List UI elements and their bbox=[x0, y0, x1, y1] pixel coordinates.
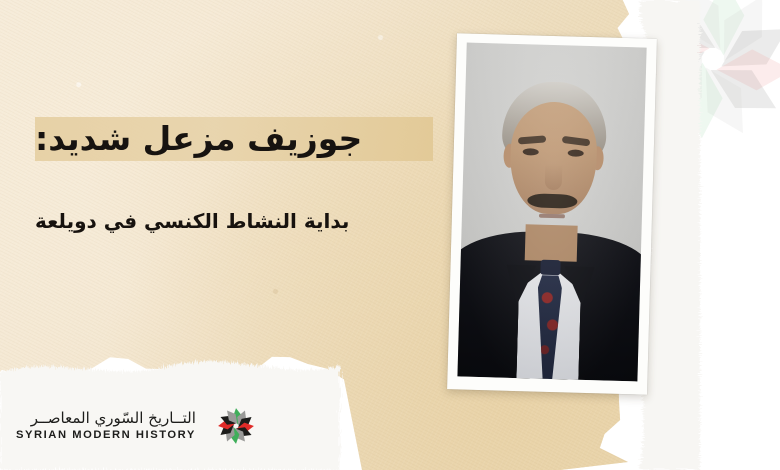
brand-logo-wordmark: التــاريخ السّوري المعاصــر SYRIAN MODER… bbox=[16, 411, 196, 441]
portrait-photo-frame bbox=[447, 33, 657, 394]
portrait-vignette bbox=[457, 43, 646, 382]
brand-name-english: SYRIAN MODERN HISTORY bbox=[16, 430, 196, 441]
portrait-photo bbox=[457, 43, 646, 382]
page-subtitle: بداية النشاط الكنسي في دويلعة bbox=[35, 208, 433, 234]
brand-name-arabic: التــاريخ السّوري المعاصــر bbox=[31, 411, 196, 426]
radial-petal-emblem-icon bbox=[208, 398, 264, 454]
poster-canvas: جوزيف مزعل شديد: بداية النشاط الكنسي في … bbox=[0, 0, 780, 470]
page-title: جوزيف مزعل شديد: bbox=[35, 113, 433, 163]
brand-logo[interactable]: التــاريخ السّوري المعاصــر SYRIAN MODER… bbox=[16, 398, 264, 454]
